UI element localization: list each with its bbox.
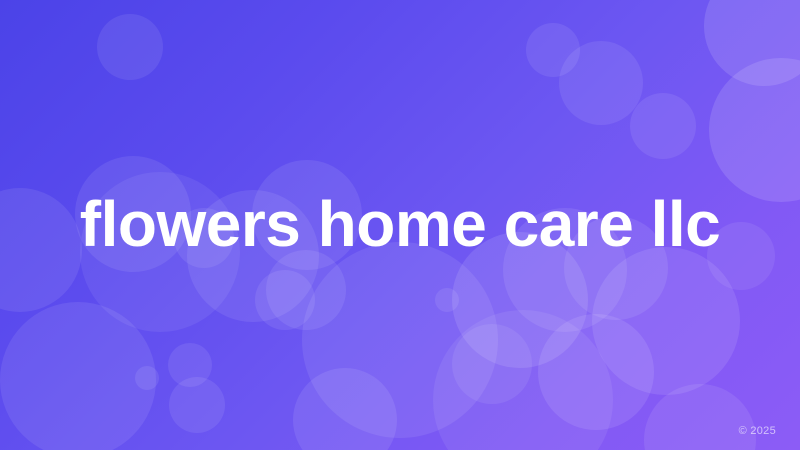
- title-banner-card: flowers home care llc © 2025: [0, 0, 800, 450]
- page-title: flowers home care llc: [80, 191, 720, 258]
- title-container: flowers home care llc: [0, 0, 800, 450]
- copyright-notice: © 2025: [739, 425, 776, 437]
